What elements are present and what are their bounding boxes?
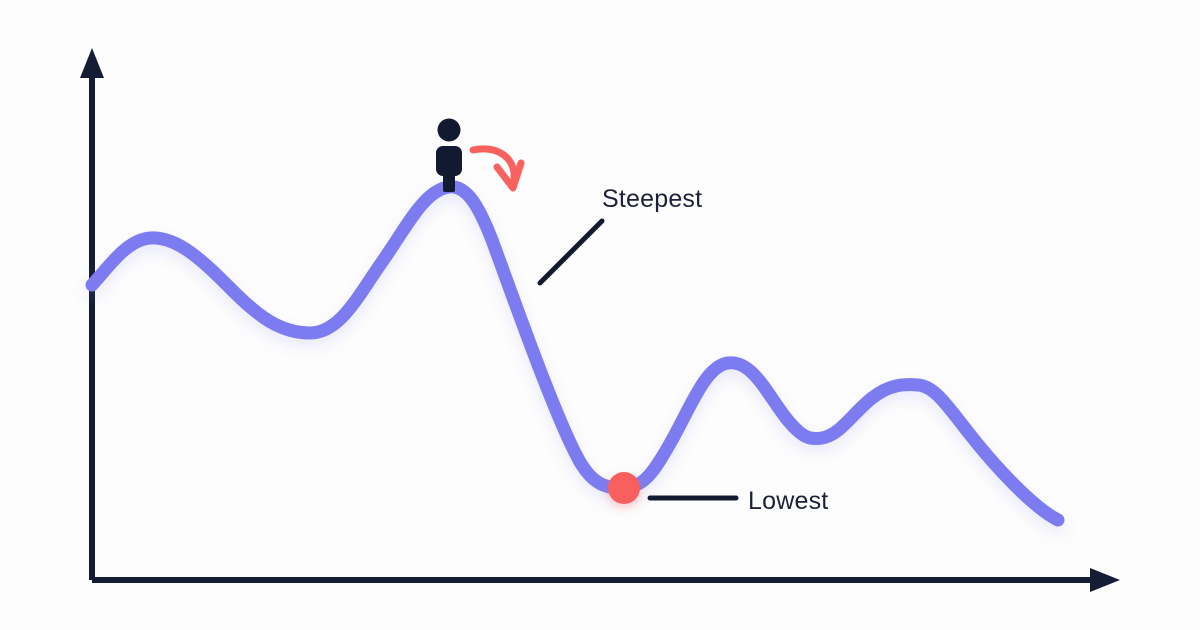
person-leg [443,170,455,192]
axes-group [80,48,1120,592]
trend-curve-path [92,187,1058,520]
curve-group [92,187,1058,520]
trend-curve-figure: Steepest Lowest [0,0,1200,630]
arrow-up-icon [80,48,104,78]
steepest-leader-line [540,221,602,283]
circle-marker-icon [608,472,640,504]
person-head [438,119,461,142]
curved-arrow-down-icon [473,149,521,188]
annotation-steepest: Steepest [540,185,702,283]
steepest-label: Steepest [602,185,702,213]
arrow-right-icon [1090,568,1120,592]
curved-arrow-shaft [473,149,514,180]
person-icon [436,119,462,193]
lowest-label: Lowest [748,487,828,515]
chart-canvas: Steepest Lowest [0,0,1200,630]
